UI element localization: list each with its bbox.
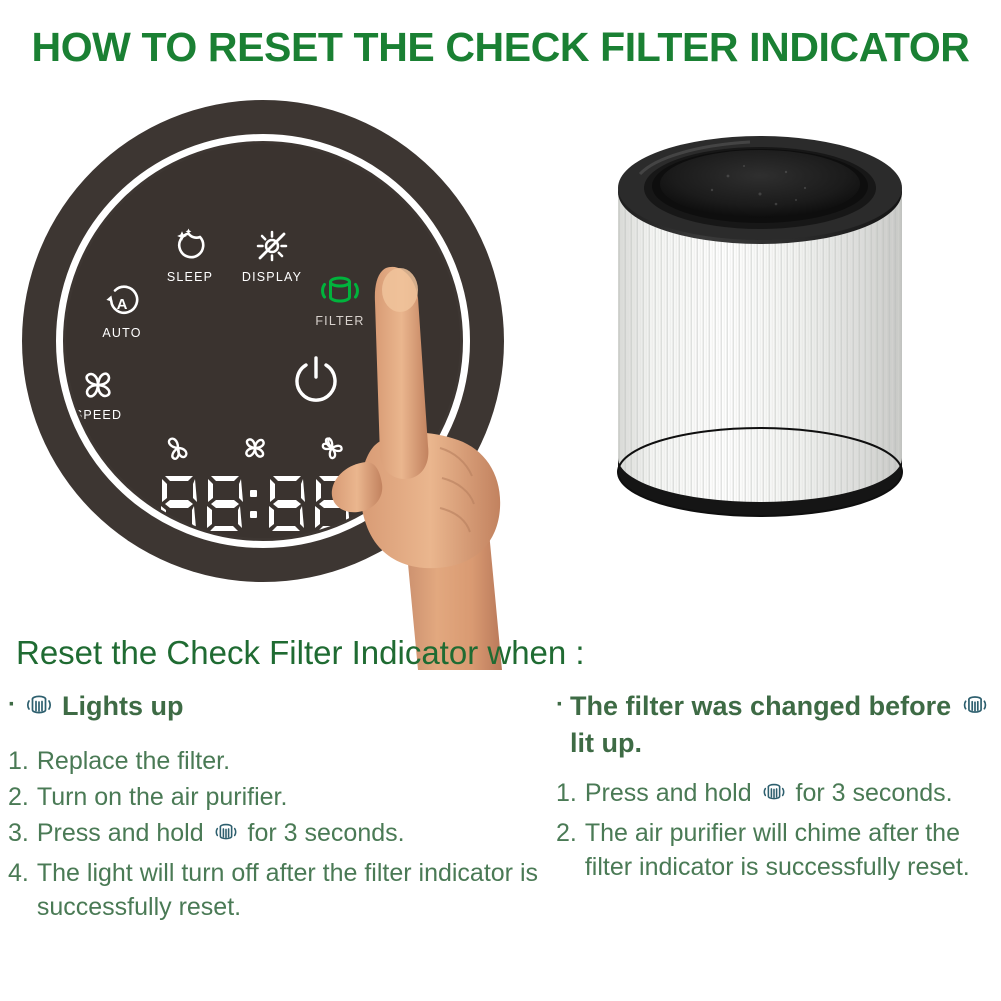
condition-column-right: · The filter was changed before <box>556 690 996 886</box>
illustration-area: SLEEP <box>0 92 1001 612</box>
condition-column-left: · Lights up 1. Replace the filter. 2. <box>8 690 548 926</box>
fan-low-icon <box>160 432 196 469</box>
step-number: 3. <box>8 816 29 854</box>
list-item: 2. Turn on the air purifier. <box>8 780 548 814</box>
condition-after-icon: lit up. <box>570 728 642 758</box>
step-text: Press and hold for 3 <box>37 816 548 854</box>
speed-button[interactable]: SPEED <box>66 366 144 422</box>
auto-a-circle-icon: A <box>76 284 168 324</box>
step-text-before-icon: Press and hold <box>585 779 752 807</box>
hepa-filter-photo <box>600 120 920 540</box>
filter-indicator-icon <box>961 691 989 727</box>
step-text: The air purifier will chime after the fi… <box>585 816 996 884</box>
step-text: The light will turn off after the filter… <box>37 856 548 924</box>
steps-list-right: 1. Press and hold <box>556 776 996 884</box>
list-item: 1. Press and hold <box>556 776 996 814</box>
pointing-hand <box>290 250 550 670</box>
condition-text-left: Lights up <box>62 690 548 723</box>
svg-text:A: A <box>117 296 128 313</box>
steps-list-left: 1. Replace the filter. 2. Turn on the ai… <box>8 744 548 924</box>
condition-before-icon: before <box>869 691 952 721</box>
fan-blade-icon <box>66 366 144 406</box>
list-item: 3. Press and hold <box>8 816 548 854</box>
bullet-marker: · <box>8 690 16 720</box>
auto-button[interactable]: A AUTO <box>76 284 168 340</box>
step-number: 2. <box>556 816 577 884</box>
page-title: HOW TO RESET THE CHECK FILTER INDICATOR <box>0 24 1001 71</box>
step-text: Press and hold for 3 <box>585 776 996 814</box>
list-item: 4. The light will turn off after the fil… <box>8 856 548 924</box>
air-purifier-control-panel: SLEEP <box>22 100 504 582</box>
moon-sleep-icon <box>144 228 236 268</box>
list-item: 1. Replace the filter. <box>8 744 548 778</box>
step-number: 2. <box>8 780 29 814</box>
step-text: Replace the filter. <box>37 744 548 778</box>
list-item: 2. The air purifier will chime after the… <box>556 816 996 884</box>
step-number: 1. <box>556 776 577 814</box>
step-number: 4. <box>8 856 29 924</box>
step-text-after-icon: for 3 seconds. <box>248 819 405 847</box>
sleep-button-label: SLEEP <box>144 270 236 284</box>
sleep-button[interactable]: SLEEP <box>144 228 236 284</box>
bullet-marker: · <box>556 690 564 720</box>
speed-button-label: SPEED <box>66 408 144 422</box>
condition-heading-right: · The filter was changed before <box>556 690 996 760</box>
filter-indicator-icon <box>213 819 239 854</box>
auto-button-label: AUTO <box>76 326 168 340</box>
step-text-before-icon: Press and hold <box>37 819 204 847</box>
condition-line-1: The filter was changed <box>570 691 861 721</box>
filter-indicator-icon <box>761 779 787 814</box>
filter-indicator-icon <box>24 690 54 728</box>
step-text: Turn on the air purifier. <box>37 780 548 814</box>
step-text-after-icon: for 3 seconds. <box>796 779 953 807</box>
condition-text-right: The filter was changed before lit up. <box>570 690 996 760</box>
condition-heading-left: · Lights up <box>8 690 548 728</box>
fan-medium-icon <box>237 432 273 469</box>
reset-section-heading: Reset the Check Filter Indicator when : <box>16 634 585 672</box>
step-number: 1. <box>8 744 29 778</box>
